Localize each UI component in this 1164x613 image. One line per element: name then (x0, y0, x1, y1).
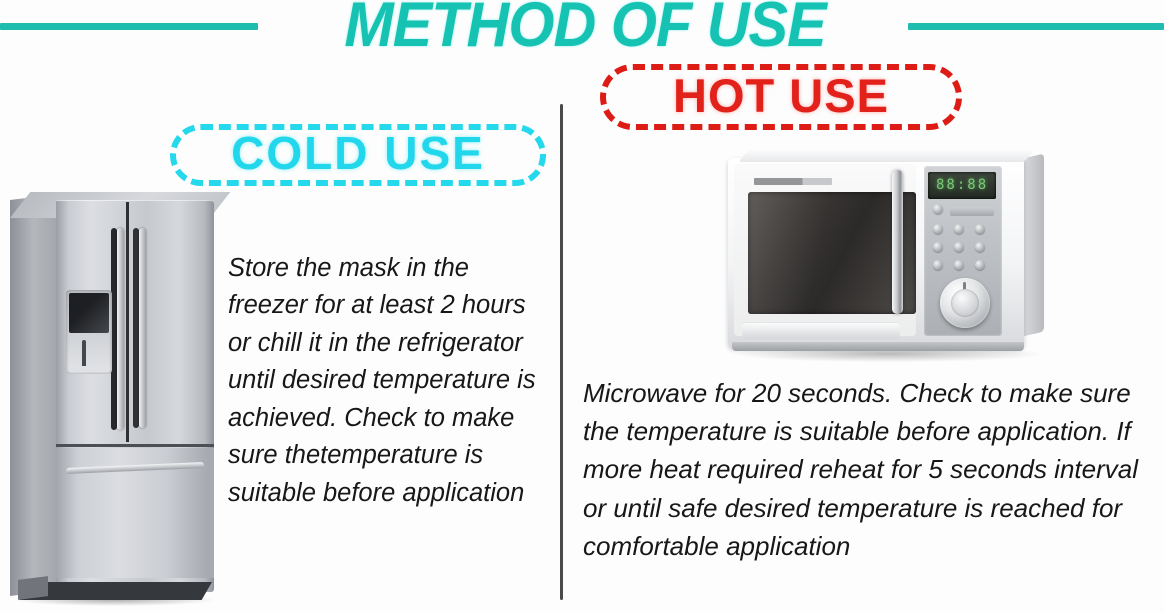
microwave-base (732, 342, 1024, 351)
header-rule-right (908, 23, 1164, 30)
method-of-use-infographic: METHOD OF USE COLD USE Store the mask in… (0, 0, 1164, 613)
badge-hot-use: HOT USE (600, 64, 962, 130)
microwave-button[interactable] (954, 224, 964, 234)
microwave-button[interactable] (933, 204, 943, 214)
microwave-button[interactable] (933, 242, 943, 252)
refrigerator-side-foot (18, 576, 48, 600)
microwave-button-row-4[interactable] (933, 260, 985, 270)
microwave-brand-mark (754, 178, 832, 185)
refrigerator-illustration (4, 190, 220, 613)
microwave-wide-button[interactable] (950, 207, 994, 216)
microwave-door-lip (742, 322, 900, 339)
dispenser-drip-tray (69, 366, 109, 372)
microwave-button[interactable] (975, 224, 985, 234)
refrigerator-side-panel (10, 194, 62, 596)
dispenser-lever (82, 340, 86, 368)
microwave-button[interactable] (933, 224, 943, 234)
dispenser-recess (69, 293, 109, 333)
microwave-button[interactable] (975, 260, 985, 270)
badge-cold-use: COLD USE (170, 124, 546, 186)
column-divider (560, 104, 563, 600)
badge-cold-use-label: COLD USE (231, 130, 485, 180)
microwave-button[interactable] (975, 242, 985, 252)
cold-use-instructions: Store the mask in the freezer for at lea… (228, 250, 550, 512)
microwave-button-row-2[interactable] (933, 224, 985, 234)
microwave-button-row-3[interactable] (933, 242, 985, 252)
microwave-display-digits: 88:88 (936, 177, 988, 193)
microwave-button[interactable] (933, 260, 943, 270)
microwave-control-panel: 88:88 (924, 166, 1002, 336)
microwave-button[interactable] (954, 260, 964, 270)
microwave-illustration: 88:88 (728, 146, 1048, 361)
microwave-top-panel (738, 150, 1035, 162)
microwave-dial-inner (951, 289, 979, 317)
header-rule-left (0, 23, 258, 30)
microwave-dial-knob[interactable] (940, 278, 990, 328)
page-title: METHOD OF USE (281, 0, 888, 57)
microwave-window (748, 192, 916, 314)
water-ice-dispenser (66, 290, 112, 374)
refrigerator-base-plinth (20, 582, 212, 600)
microwave-display: 88:88 (928, 172, 996, 199)
refrigerator-door-split (126, 202, 129, 442)
microwave-door (734, 164, 916, 336)
microwave-button-row-1[interactable] (933, 204, 943, 214)
microwave-window-glare (748, 192, 873, 314)
refrigerator-handle-left (117, 228, 124, 430)
hot-use-instructions: Microwave for 20 seconds. Check to make … (583, 374, 1153, 565)
microwave-door-handle (892, 170, 903, 314)
header: METHOD OF USE (0, 0, 1164, 62)
badge-hot-use-label: HOT USE (673, 72, 889, 123)
refrigerator-drawer-seam (56, 444, 214, 447)
microwave-button[interactable] (954, 242, 964, 252)
refrigerator-handle-right (139, 228, 146, 428)
